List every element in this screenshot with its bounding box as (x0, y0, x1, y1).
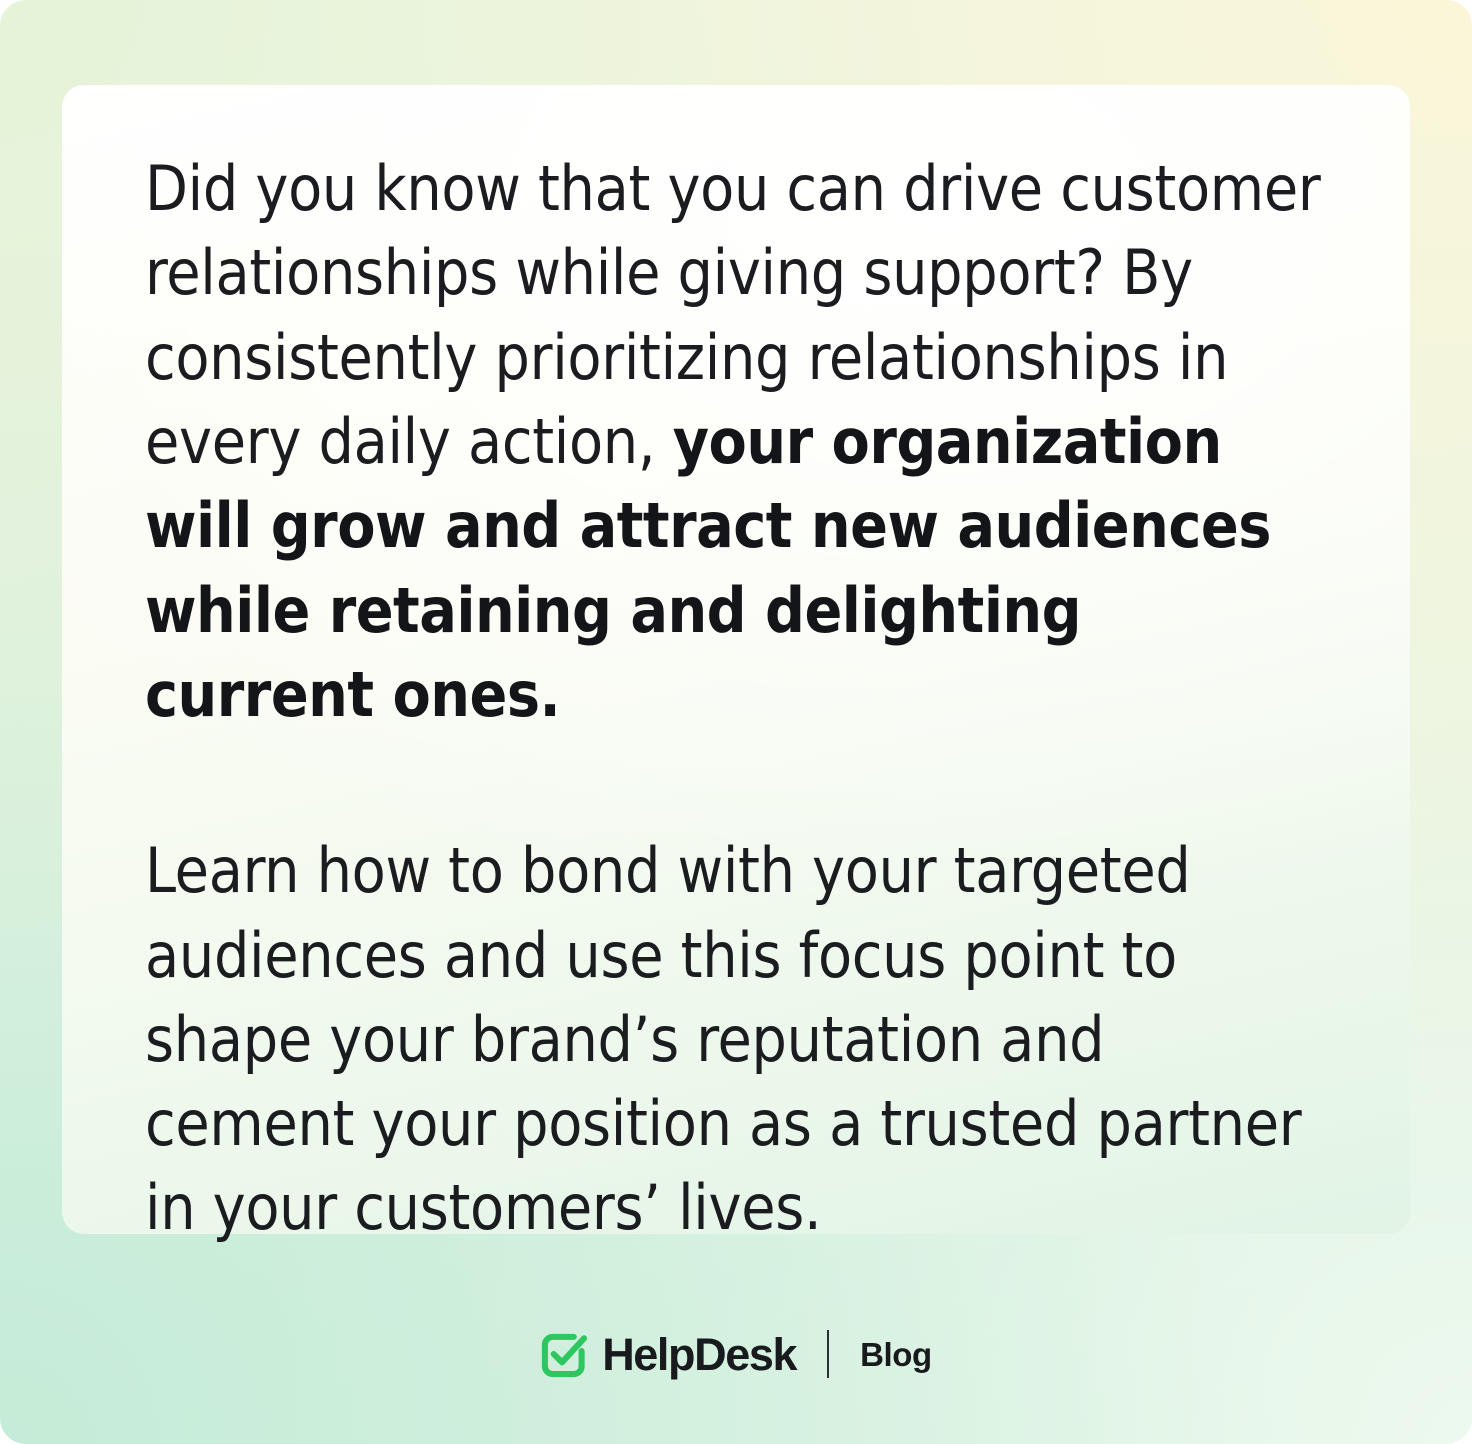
footer-brandbar: HelpDesk Blog (0, 1318, 1472, 1390)
footer-section-label[interactable]: Blog (860, 1338, 932, 1371)
quote-card: Did you know that you can drive customer… (62, 85, 1410, 1234)
helpdesk-logo[interactable]: HelpDesk (540, 1331, 796, 1378)
quote-paragraph-primary: Did you know that you can drive customer… (145, 147, 1325, 737)
footer-divider (827, 1330, 829, 1378)
helpdesk-wordmark: HelpDesk (602, 1332, 796, 1377)
quote-paragraph-secondary-lead: Learn how to bond with your targeted aud… (145, 834, 1301, 1244)
quote-card-canvas: Did you know that you can drive customer… (0, 0, 1472, 1444)
checkbox-check-icon (540, 1331, 587, 1378)
quote-paragraph-secondary: Learn how to bond with your targeted aud… (145, 829, 1325, 1251)
quote-card-body: Did you know that you can drive customer… (145, 147, 1325, 1251)
